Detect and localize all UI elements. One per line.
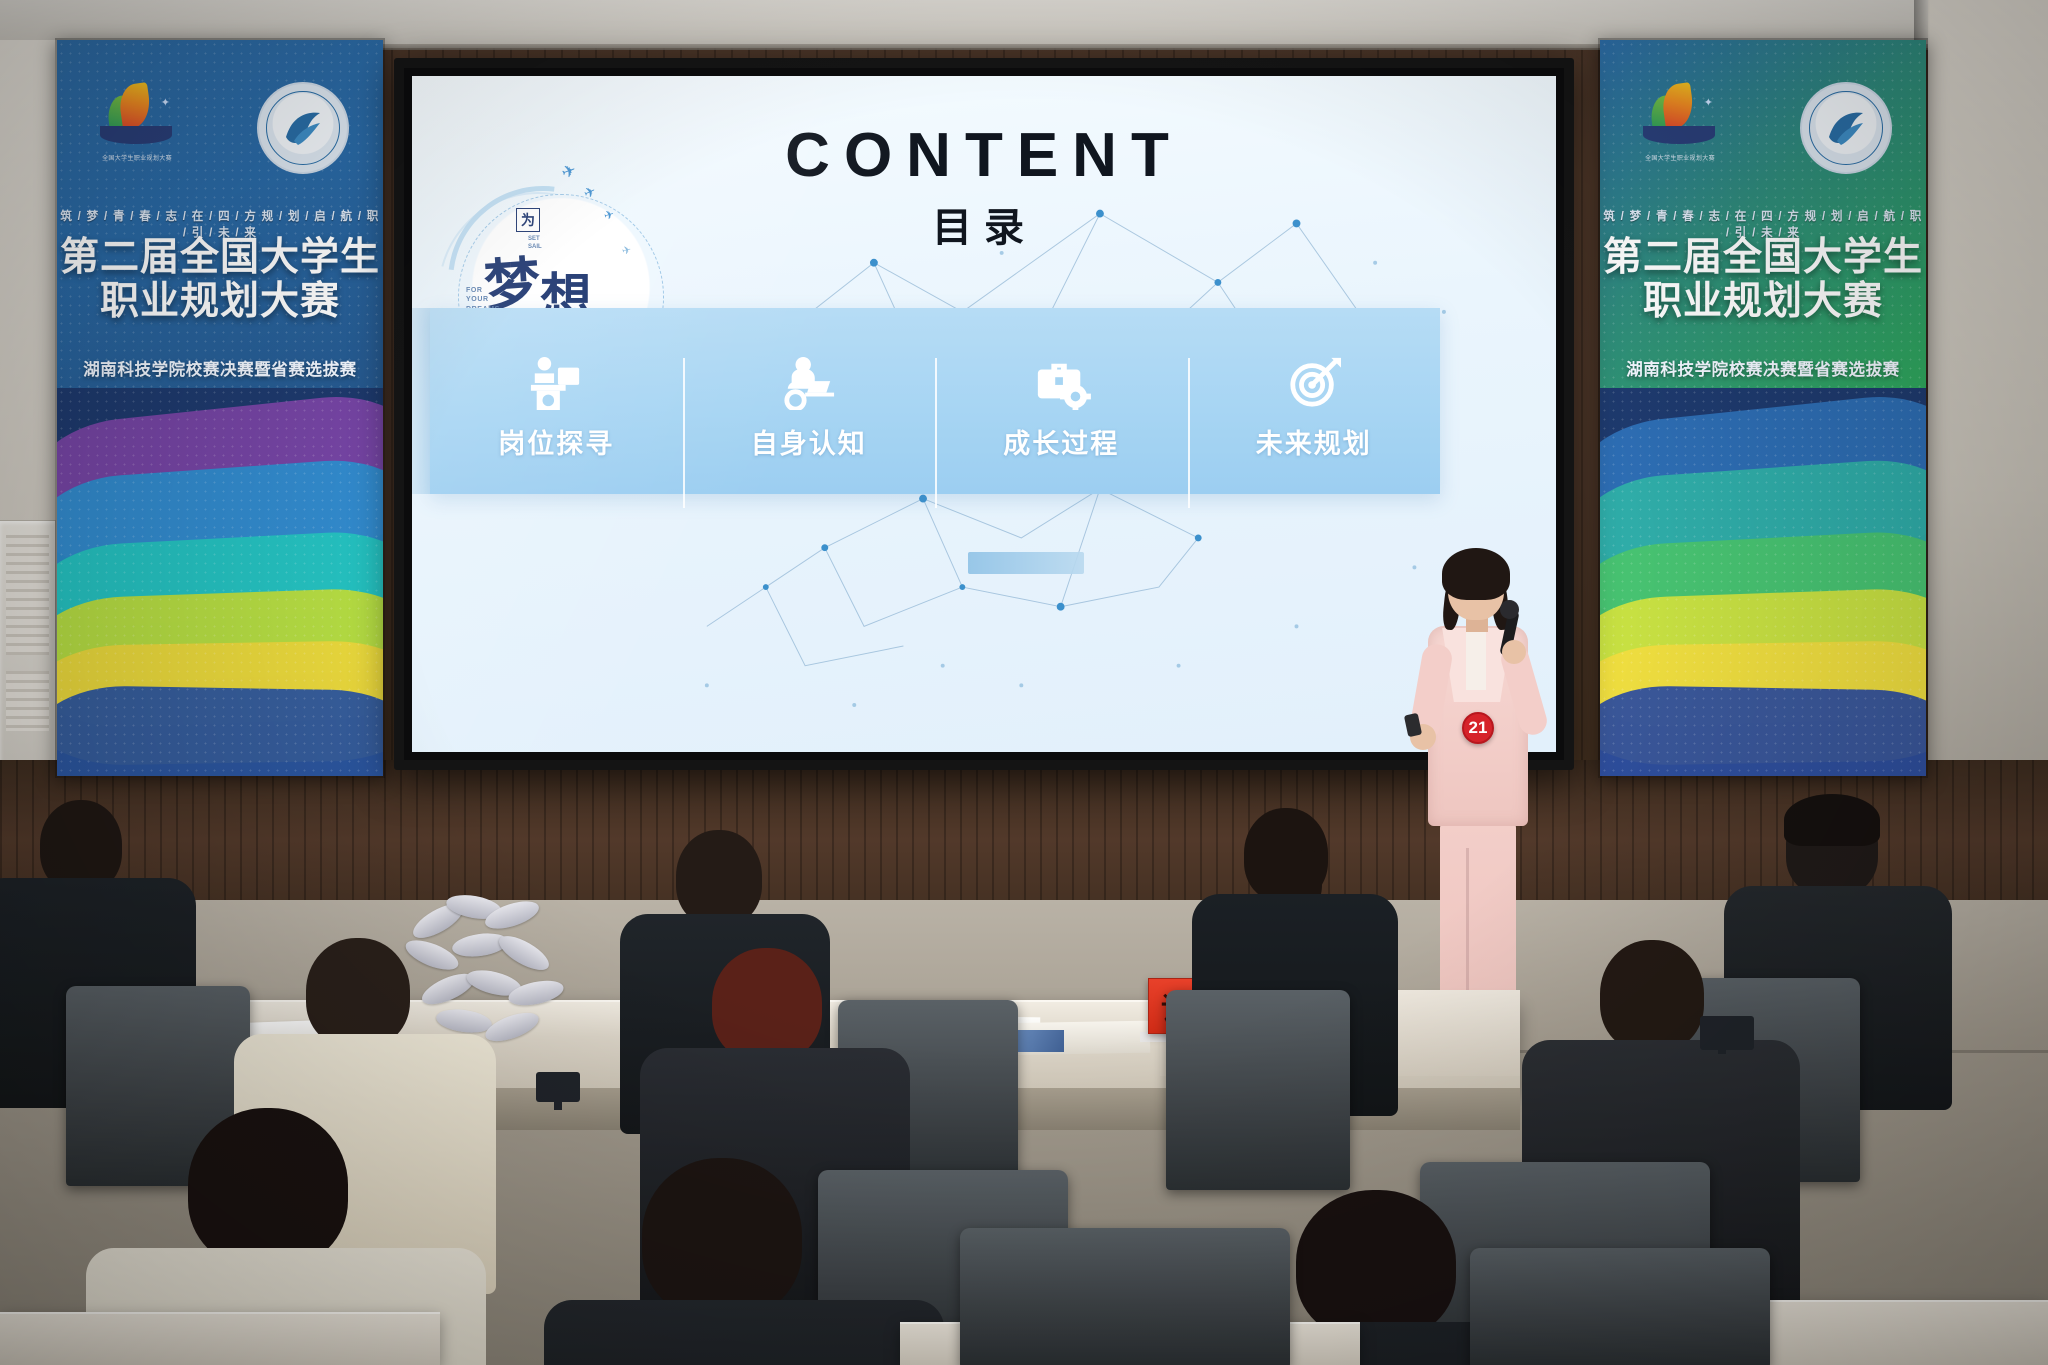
banner-right-title-line2: 职业规划大赛 <box>1600 280 1926 324</box>
slide-decor-chip <box>968 552 1084 574</box>
content-menu-bar: 岗位探寻 自身 <box>430 308 1440 494</box>
content-item-label-0: 岗位探寻 <box>430 422 683 461</box>
banner-left-title: 第二届全国大学生 职业规划大赛 <box>57 236 383 325</box>
presenter-podium-icon <box>430 348 683 410</box>
projection-screen-frame: CONTENT 目录 为 梦 想 起 航 FORYOURDREAMS SETSA… <box>394 58 1574 770</box>
monitor-screen-2 <box>1700 1016 1754 1050</box>
audience-person-row3-b <box>580 1158 900 1365</box>
target-arrow-icon <box>1188 348 1441 410</box>
sail-logo-caption-right: 全国大学生职业规划大赛 <box>1638 152 1723 161</box>
banner-left-title-line2: 职业规划大赛 <box>57 280 383 324</box>
seal-en-text-2: SETSAIL <box>528 236 542 252</box>
content-item-label-2: 成长过程 <box>935 422 1188 461</box>
contestant-number-badge: 21 <box>1462 712 1494 744</box>
chair-row3-1[interactable] <box>960 1228 1290 1365</box>
briefcase-gear-icon <box>935 348 1188 410</box>
content-bar-left-tab <box>412 308 430 494</box>
monitor-screen <box>536 1072 580 1102</box>
sail-logo-caption: 全国大学生职业规划大赛 <box>95 152 180 161</box>
seal-char-wei: 为 <box>516 208 540 232</box>
school-emblem-logo <box>257 82 349 174</box>
competition-sail-logo-right: ✦ 全国大学生职业规划大赛 <box>1634 82 1726 162</box>
chair-row1-3[interactable] <box>1166 990 1350 1190</box>
competition-sail-logo: ✦ 全国大学生职业规划大赛 <box>91 82 183 162</box>
presentation-scene: ✦ 全国大学生职业规划大赛 筑 / 梦 / 青 / 春 / 志 / 在 / 四 … <box>0 0 2048 1365</box>
banner-right-title-line1: 第二届全国大学生 <box>1600 236 1926 280</box>
school-bird-icon-right <box>1823 107 1869 149</box>
content-menu-items: 岗位探寻 自身 <box>430 308 1440 494</box>
banner-left-top: ✦ 全国大学生职业规划大赛 筑 / 梦 / 青 / 春 / 志 / 在 / 四 … <box>57 40 383 400</box>
banner-right-logos: ✦ 全国大学生职业规划大赛 <box>1600 82 1926 174</box>
content-item-growth-process[interactable]: 成长过程 <box>935 342 1188 461</box>
content-item-label-3: 未来规划 <box>1188 422 1441 461</box>
banner-right: ✦ 全国大学生职业规划大赛 筑 / 梦 / 青 / 春 / 志 / 在 / 四 … <box>1598 38 1928 778</box>
presentation-slide: CONTENT 目录 为 梦 想 起 航 FORYOURDREAMS SETSA… <box>412 76 1556 752</box>
school-bird-icon <box>280 107 326 149</box>
content-item-self-awareness[interactable]: 自身认知 <box>683 342 936 461</box>
banner-left-title-line1: 第二届全国大学生 <box>57 236 383 280</box>
banner-right-top: ✦ 全国大学生职业规划大赛 筑 / 梦 / 青 / 春 / 志 / 在 / 四 … <box>1600 40 1926 400</box>
content-item-label-1: 自身认知 <box>683 422 936 461</box>
chair-row3-2[interactable] <box>1470 1248 1770 1365</box>
banner-right-title: 第二届全国大学生 职业规划大赛 <box>1600 236 1926 325</box>
content-item-future-planning[interactable]: 未来规划 <box>1188 342 1441 461</box>
microphone-icon <box>1500 600 1519 619</box>
booklet <box>1010 1030 1064 1052</box>
slide-title-en: CONTENT <box>412 120 1556 191</box>
person-laptop-icon <box>683 348 936 410</box>
right-wall <box>1928 0 2048 880</box>
air-conditioner-unit <box>0 520 56 770</box>
content-item-job-exploration[interactable]: 岗位探寻 <box>430 342 683 461</box>
presenter-speaker: 21 <box>1418 548 1538 1048</box>
banner-left-subtitle: 湖南科技学院校赛决赛暨省赛选拔赛 <box>57 356 383 380</box>
banner-right-wave-art <box>1600 388 1926 776</box>
banner-left-logos: ✦ 全国大学生职业规划大赛 <box>57 82 383 174</box>
desk-row3-left <box>0 1312 440 1365</box>
banner-left: ✦ 全国大学生职业规划大赛 筑 / 梦 / 青 / 春 / 志 / 在 / 四 … <box>55 38 385 778</box>
banner-right-subtitle: 湖南科技学院校赛决赛暨省赛选拔赛 <box>1600 356 1926 380</box>
school-emblem-logo-right <box>1800 82 1892 174</box>
banner-left-wave-art <box>57 388 383 776</box>
